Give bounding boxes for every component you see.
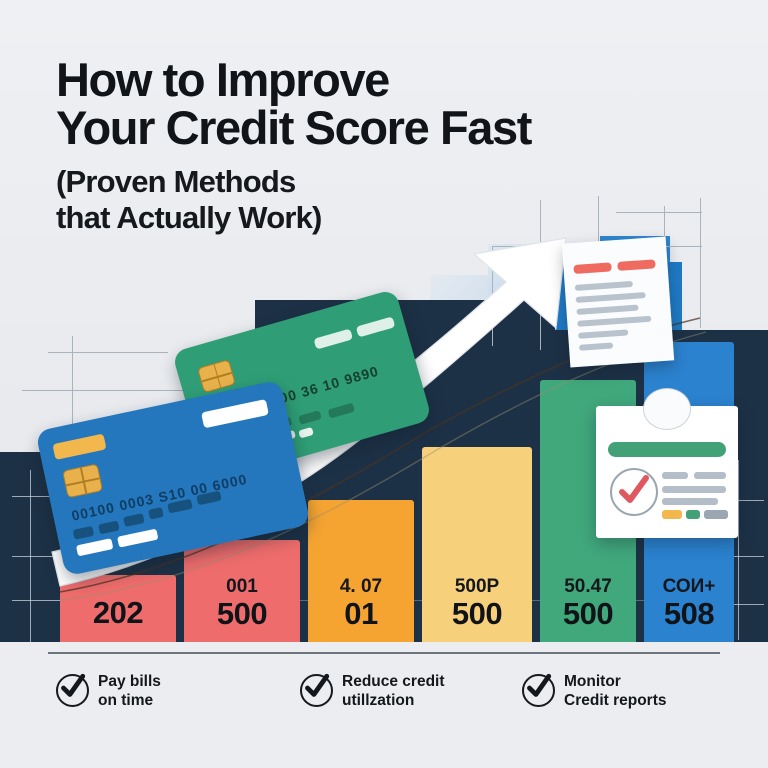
footer-divider: [48, 652, 720, 654]
card-chip-icon: [197, 359, 236, 393]
bar-1-label-bottom: 202: [60, 595, 176, 631]
statement-header-bar: [617, 259, 656, 271]
report-text-line: [694, 472, 726, 479]
infographic-poster: How to Improve Your Credit Score Fast (P…: [0, 0, 768, 768]
statement-text-line: [577, 316, 651, 327]
checklist-item-label: Reduce credit utillzation: [342, 672, 445, 710]
subtitle-line-2: that Actually Work): [56, 200, 716, 236]
checklist-item-monitor-reports[interactable]: Monitor Credit reports: [522, 672, 667, 710]
checklist-line-2: utillzation: [342, 692, 414, 709]
card-block: [298, 410, 322, 425]
statement-text-line: [575, 281, 633, 291]
card-stripe: [313, 329, 353, 350]
bar-2-label-top: 001: [184, 576, 300, 598]
checklist-line-2: on time: [98, 692, 153, 709]
card-block: [123, 513, 145, 527]
statement-text-line: [576, 292, 646, 303]
bar-3-label-top: 4. 07: [308, 576, 414, 598]
checklist-item-label: Pay bills on time: [98, 672, 161, 710]
checklist-line-1: Pay bills: [98, 673, 161, 690]
card-block: [328, 403, 355, 419]
report-tag: [662, 510, 682, 519]
bar-6-label-top: СОИ+: [644, 576, 734, 598]
bar-4-label-top: 500P: [422, 576, 532, 598]
report-text-line: [662, 498, 718, 505]
card-chip-icon: [62, 463, 103, 498]
bar-5-label-bottom: 500: [540, 596, 636, 632]
statement-text-line: [579, 342, 613, 350]
clipboard-clasp: [643, 388, 691, 430]
checklist-line-1: Reduce credit: [342, 673, 445, 690]
bar-2-label-bottom: 500: [184, 596, 300, 632]
checklist-footer: Pay bills on time Reduce credit utillzat…: [0, 642, 768, 768]
bar-4-label-bottom: 500: [422, 596, 532, 632]
report-tag: [704, 510, 728, 519]
checklist-line-2: Credit reports: [564, 692, 667, 709]
subtitle-line-1: (Proven Methods: [56, 164, 716, 200]
credit-report-clipboard: [596, 406, 738, 538]
report-tag: [686, 510, 700, 519]
title-line-1: How to Improve: [56, 56, 716, 104]
checklist-item-pay-bills[interactable]: Pay bills on time: [56, 672, 161, 710]
card-block: [98, 520, 120, 534]
card-stripe: [356, 316, 396, 337]
statement-text-line: [576, 305, 638, 315]
checklist-item-label: Monitor Credit reports: [564, 672, 667, 710]
report-text-line: [662, 472, 688, 479]
credit-statement-document: [562, 237, 674, 368]
report-text-line: [662, 486, 726, 493]
card-magnetic-stripe: [52, 434, 106, 460]
checklist-line-1: Monitor: [564, 673, 621, 690]
statement-header-bar: [573, 262, 612, 274]
card-stripe: [201, 399, 269, 428]
bar-6-label-bottom: 508: [644, 596, 734, 632]
card-block: [73, 526, 95, 540]
bar-4: 500P 500: [422, 447, 532, 642]
check-icon: [522, 674, 555, 707]
card-block: [298, 427, 314, 439]
bar-3: 4. 07 01: [308, 500, 414, 642]
statement-text-line: [578, 329, 628, 338]
page-title: How to Improve Your Credit Score Fast (P…: [56, 56, 716, 236]
check-icon: [300, 674, 333, 707]
bar-2: 001 500: [184, 540, 300, 642]
check-icon: [56, 674, 89, 707]
title-line-2: Your Credit Score Fast: [56, 104, 716, 152]
report-title-bar: [608, 442, 726, 457]
card-block: [117, 529, 158, 548]
bar-1: 202: [60, 575, 176, 642]
check-icon: [614, 472, 652, 510]
card-block: [76, 538, 114, 556]
checklist-item-reduce-utilization[interactable]: Reduce credit utillzation: [300, 672, 445, 710]
bar-3-label-bottom: 01: [308, 596, 414, 632]
card-block: [148, 507, 164, 520]
bar-5-label-top: 50.47: [540, 576, 636, 598]
